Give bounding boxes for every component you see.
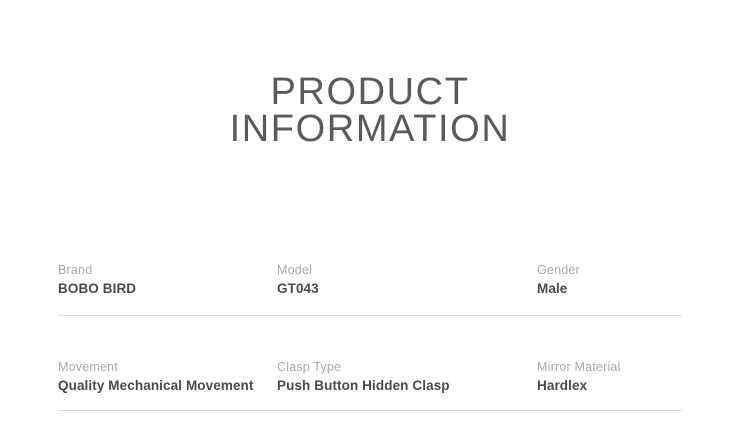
spec-cell-movement: Movement Quality Mechanical Movement <box>58 359 277 410</box>
spec-row: Movement Quality Mechanical Movement Cla… <box>58 316 682 411</box>
spec-value: GT043 <box>277 280 537 298</box>
spec-label: Gender <box>537 262 682 278</box>
product-spec-table: Brand BOBO BIRD Model GT043 Gender Male … <box>58 262 682 411</box>
page-title-line-2: INFORMATION <box>0 111 740 148</box>
spec-label: Clasp Type <box>277 359 537 375</box>
page-title: PRODUCT INFORMATION <box>0 74 740 148</box>
spec-cell-model: Model GT043 <box>277 262 537 315</box>
spec-label: Brand <box>58 262 277 278</box>
spec-row: Brand BOBO BIRD Model GT043 Gender Male <box>58 262 682 316</box>
spec-cell-brand: Brand BOBO BIRD <box>58 262 277 315</box>
page-title-line-1: PRODUCT <box>0 74 740 111</box>
spec-value: Push Button Hidden Clasp <box>277 377 537 395</box>
spec-cell-mirror-material: Mirror Material Hardlex <box>537 359 682 410</box>
spec-label: Mirror Material <box>537 359 682 375</box>
product-information-page: PRODUCT INFORMATION Brand BOBO BIRD Mode… <box>0 0 740 429</box>
spec-value: Male <box>537 280 682 298</box>
spec-cell-gender: Gender Male <box>537 262 682 315</box>
spec-label: Model <box>277 262 537 278</box>
spec-cell-clasp-type: Clasp Type Push Button Hidden Clasp <box>277 359 537 410</box>
spec-value: Hardlex <box>537 377 682 395</box>
spec-label: Movement <box>58 359 277 375</box>
spec-value: BOBO BIRD <box>58 280 277 298</box>
spec-value: Quality Mechanical Movement <box>58 377 277 395</box>
